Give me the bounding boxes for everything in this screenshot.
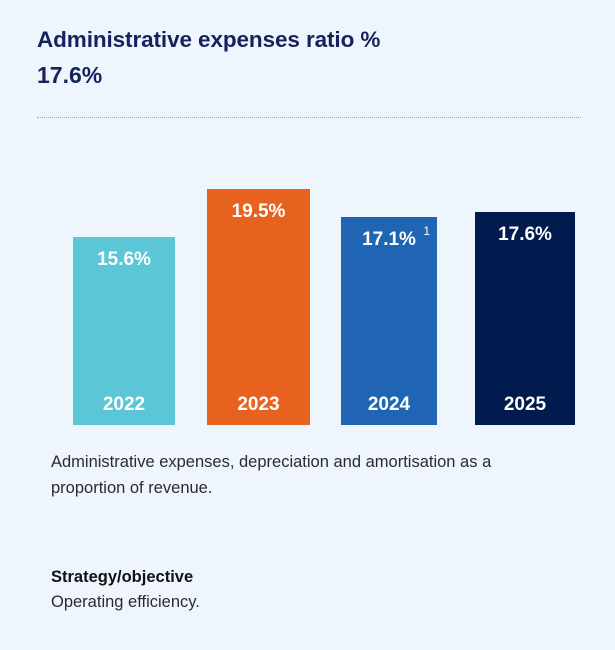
bar-2025: 17.6% 2025 [475,212,575,425]
bar-category-label-2024: 2024 [341,395,437,414]
bar-2024: 17.1% 1 2024 [341,217,437,425]
bar-category-label-2023: 2023 [207,395,310,414]
bar-value-label-2022: 15.6% [73,250,175,269]
kpi-card: Administrative expenses ratio % 17.6% 15… [0,0,615,650]
strategy-section: Strategy/objective Operating efficiency. [51,565,521,615]
strategy-text: Operating efficiency. [51,590,521,615]
bar-category-label-2022: 2022 [73,395,175,414]
bar-2022: 15.6% 2022 [73,237,175,425]
bar-2023: 19.5% 2023 [207,189,310,425]
footnote-marker-2024: 1 [423,225,430,237]
bar-category-label-2025: 2025 [475,395,575,414]
bar-value-label-2023: 19.5% [207,202,310,221]
metric-description: Administrative expenses, depreciation an… [51,450,521,501]
strategy-heading: Strategy/objective [51,565,521,590]
bar-value-label-2025: 17.6% [475,225,575,244]
bar-chart: 15.6% 2022 19.5% 2023 17.1% 1 2024 17.6%… [0,0,615,650]
